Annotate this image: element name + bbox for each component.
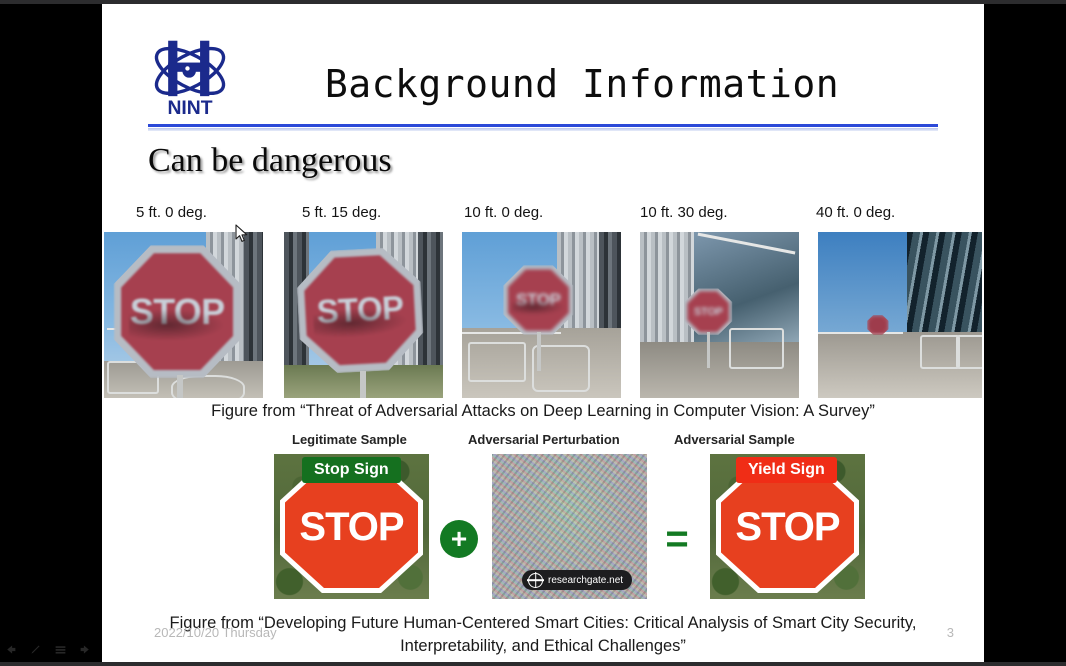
logo-wordmark: NINT: [167, 98, 212, 118]
photo-shot-5: [818, 232, 982, 398]
slide-number: 3: [947, 625, 954, 640]
shot-label-5: 40 ft. 0 deg.: [816, 204, 895, 221]
equals-operator-icon: =: [658, 520, 696, 558]
slide-title: Background Information: [262, 52, 902, 116]
panel-heading-perturbation: Adversarial Perturbation: [468, 432, 620, 447]
previous-slide-icon[interactable]: [4, 643, 17, 656]
photo-shot-4: STOP: [640, 232, 799, 398]
shot-label-4: 10 ft. 30 deg.: [640, 204, 728, 221]
slide-menu-icon[interactable]: [54, 643, 67, 656]
sign-text-legitimate: STOP: [299, 505, 403, 550]
label-tag-stop-sign: Stop Sign: [302, 457, 401, 483]
mouse-cursor: [235, 224, 248, 243]
viewer-bottom-bar: [0, 662, 1066, 666]
photo-shot-1: STOP: [104, 232, 263, 398]
panel-heading-legitimate: Legitimate Sample: [292, 432, 407, 447]
next-slide-icon[interactable]: [79, 643, 92, 656]
panel-adversarial-perturbation: researchgate.net: [492, 454, 647, 599]
photo-shot-3: STOP: [462, 232, 621, 398]
shot-label-2: 5 ft. 15 deg.: [302, 204, 381, 221]
slide-date: 2022/10/20 Thursday: [154, 625, 277, 640]
photo-shot-2: STOP: [284, 232, 443, 398]
title-divider: [148, 124, 938, 132]
label-tag-yield-sign: Yield Sign: [736, 457, 837, 483]
panel-adversarial-sample: STOP Yield Sign: [710, 454, 865, 599]
adversarial-figure: Legitimate Sample Adversarial Perturbati…: [102, 432, 984, 622]
slide-subtitle: Can be dangerous: [148, 142, 392, 180]
panel-heading-adversarial: Adversarial Sample: [674, 432, 795, 447]
divider-rule-primary: [148, 124, 938, 127]
sign-text-adversarial: STOP: [735, 505, 839, 550]
presentation-viewer: NINT Background Information Can be dange…: [0, 0, 1066, 666]
watermark-text: researchgate.net: [548, 575, 623, 586]
shot-label-3: 10 ft. 0 deg.: [464, 204, 543, 221]
plus-operator-icon: +: [440, 520, 478, 558]
researchgate-icon: [528, 573, 543, 588]
divider-rule-secondary: [148, 128, 938, 131]
presenter-toolbar[interactable]: [4, 643, 92, 656]
shot-label-1: 5 ft. 0 deg.: [136, 204, 207, 221]
panel-legitimate-sample: STOP Stop Sign: [274, 454, 429, 599]
photo-strip-caption: Figure from “Threat of Adversarial Attac…: [102, 402, 984, 421]
pen-tool-icon[interactable]: [29, 643, 42, 656]
slide-canvas: NINT Background Information Can be dange…: [102, 4, 984, 662]
researchgate-watermark: researchgate.net: [522, 570, 632, 590]
nint-logo: NINT: [148, 34, 232, 118]
